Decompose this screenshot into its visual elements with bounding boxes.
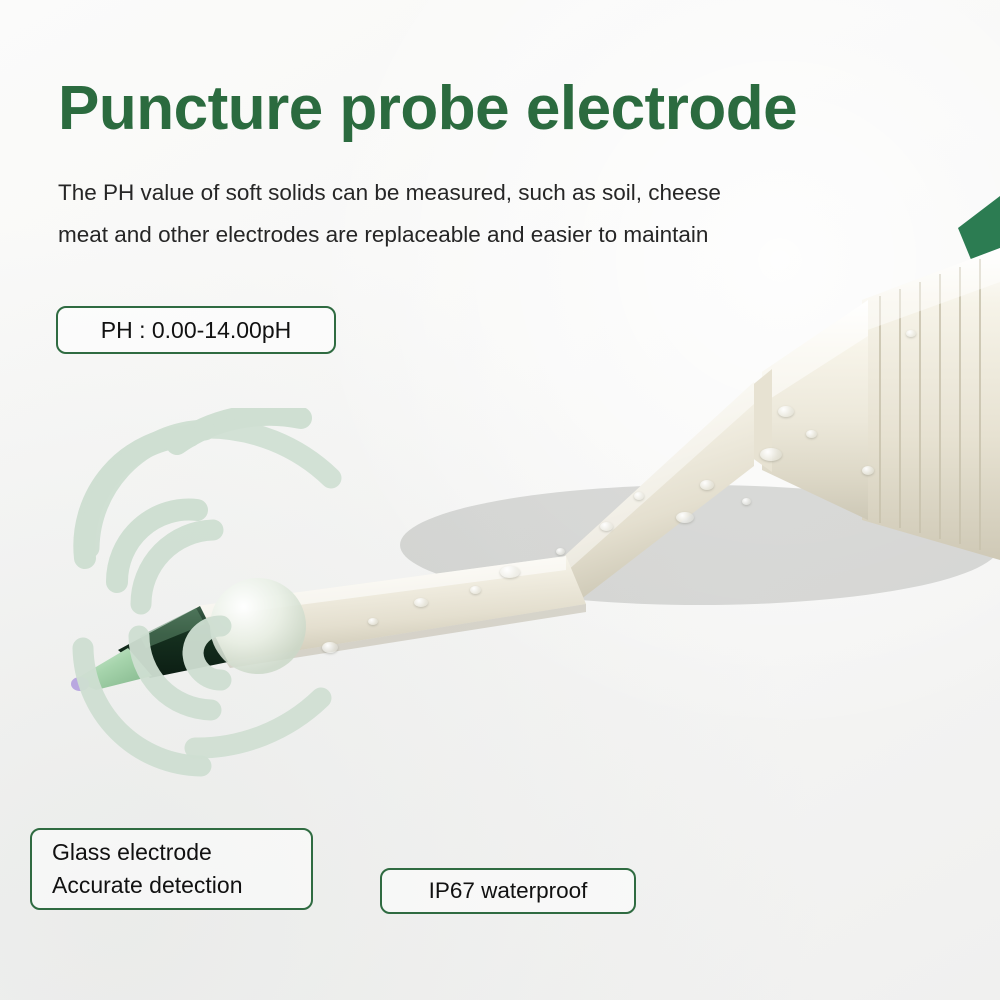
badge-waterproof-label: IP67 waterproof bbox=[429, 878, 588, 904]
badge-ph-range: PH : 0.00-14.00pH bbox=[56, 306, 336, 354]
badge-glass-line-2: Accurate detection bbox=[52, 869, 243, 902]
signal-waves-icon bbox=[55, 408, 475, 808]
subtitle: The PH value of soft solids can be measu… bbox=[58, 172, 848, 255]
probe-barrel bbox=[744, 300, 868, 520]
product-feature-image: Puncture probe electrode The PH value of… bbox=[0, 0, 1000, 1000]
probe-tail bbox=[958, 196, 1000, 262]
subtitle-line-1: The PH value of soft solids can be measu… bbox=[58, 172, 848, 214]
badge-ph-range-label: PH : 0.00-14.00pH bbox=[101, 317, 292, 344]
badge-waterproof: IP67 waterproof bbox=[380, 868, 636, 914]
subtitle-line-2: meat and other electrodes are replaceabl… bbox=[58, 214, 848, 256]
badge-glass-line-1: Glass electrode bbox=[52, 836, 212, 869]
page-title: Puncture probe electrode bbox=[58, 76, 797, 141]
probe-cap bbox=[862, 248, 1000, 560]
probe-taper bbox=[560, 382, 754, 600]
badge-glass-electrode: Glass electrode Accurate detection bbox=[30, 828, 313, 910]
probe-shadow bbox=[400, 485, 1000, 605]
